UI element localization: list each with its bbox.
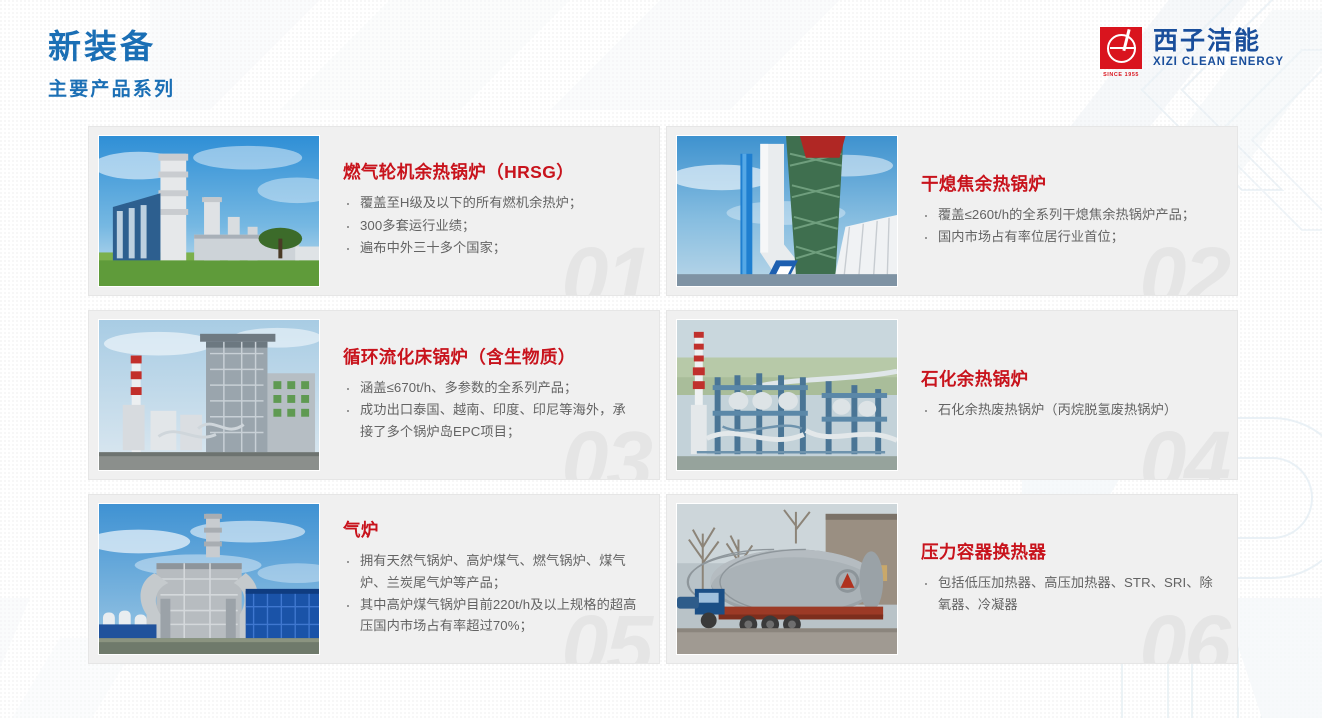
logo-name-cn: 西子洁能 [1153,28,1284,54]
card-bullet-list: 石化余热废热锅炉（丙烷脱氢废热锅炉） [921,399,1216,420]
card-watermark-number: 04 [1140,419,1229,480]
gas-turbine-hrsg-plant-photo [98,135,320,287]
card-body: 干熄焦余热锅炉 覆盖≤260t/h的全系列干熄焦余热锅炉产品； 国内市场占有率位… [898,174,1228,249]
card-title: 燃气轮机余热锅炉（HRSG） [343,162,638,183]
card-bullet-list: 涵盖≤670t/h、多参数的全系列产品； 成功出口泰国、越南、印度、印尼等海外，… [343,377,638,442]
card-title: 气炉 [343,520,638,541]
slide-header: 新装备 主要产品系列 SINCE 1955 西子洁能 XIZI CLEAN EN… [0,0,1322,118]
gas-fired-boiler-photo [98,503,320,655]
card-bullet: 遍布中外三十多个国家； [343,237,638,258]
card-bullet: 包括低压加热器、高压加热器、STR、SRI、除氧器、冷凝器 [921,572,1216,615]
product-card[interactable]: 03 [88,310,660,480]
product-card[interactable]: 01 [88,126,660,296]
card-bullet: 成功出口泰国、越南、印度、印尼等海外，承接了多个锅炉岛EPC项目； [343,399,638,442]
logo-e-icon [1100,27,1142,69]
petrochemical-waste-heat-boiler-photo [676,319,898,471]
logo-name-en: XIZI CLEAN ENERGY [1153,56,1284,68]
product-card-grid: 01 [88,126,1238,664]
card-body: 石化余热锅炉 石化余热废热锅炉（丙烷脱氢废热锅炉） [898,369,1228,421]
card-bullet-list: 拥有天然气锅炉、高炉煤气、燃气锅炉、煤气炉、兰炭尾气炉等产品； 其中高炉煤气锅炉… [343,550,638,637]
brand-logo: SINCE 1955 西子洁能 XIZI CLEAN ENERGY [1099,27,1284,78]
product-card[interactable]: 02 [666,126,1238,296]
product-card[interactable]: 05 [88,494,660,664]
card-body: 压力容器换热器 包括低压加热器、高压加热器、STR、SRI、除氧器、冷凝器 [898,542,1228,616]
card-bullet: 覆盖至H级及以下的所有燃机余热炉； [343,192,638,213]
card-body: 气炉 拥有天然气锅炉、高炉煤气、燃气锅炉、煤气炉、兰炭尾气炉等产品； 其中高炉煤… [320,520,650,638]
card-title: 石化余热锅炉 [921,369,1216,390]
page-subtitle: 主要产品系列 [48,74,175,101]
card-title: 循环流化床锅炉（含生物质） [343,347,638,368]
card-bullet: 覆盖≤260t/h的全系列干熄焦余热锅炉产品； [921,204,1216,225]
card-title: 干熄焦余热锅炉 [921,174,1216,195]
pressure-vessel-heat-exchanger-photo [676,503,898,655]
slide-root: 新装备 主要产品系列 SINCE 1955 西子洁能 XIZI CLEAN EN… [0,0,1322,718]
card-title: 压力容器换热器 [921,542,1216,563]
card-bullet-list: 包括低压加热器、高压加热器、STR、SRI、除氧器、冷凝器 [921,572,1216,615]
card-bullet: 300多套运行业绩； [343,215,638,236]
page-title: 新装备 [48,28,175,67]
card-body: 循环流化床锅炉（含生物质） 涵盖≤670t/h、多参数的全系列产品； 成功出口泰… [320,347,650,443]
card-bullet: 石化余热废热锅炉（丙烷脱氢废热锅炉） [921,399,1216,420]
card-bullet: 国内市场占有率位居行业首位； [921,226,1216,247]
logo-since-text: SINCE 1955 [1103,72,1139,78]
circulating-fluidized-bed-boiler-photo [98,319,320,471]
card-bullet-list: 覆盖至H级及以下的所有燃机余热炉； 300多套运行业绩； 遍布中外三十多个国家； [343,192,638,258]
title-block: 新装备 主要产品系列 [48,28,175,101]
card-bullet: 涵盖≤670t/h、多参数的全系列产品； [343,377,638,398]
product-card[interactable]: 04 [666,310,1238,480]
card-body: 燃气轮机余热锅炉（HRSG） 覆盖至H级及以下的所有燃机余热炉； 300多套运行… [320,162,650,259]
coke-dry-quenching-boiler-photo [676,135,898,287]
product-card[interactable]: 06 [666,494,1238,664]
card-bullet-list: 覆盖≤260t/h的全系列干熄焦余热锅炉产品； 国内市场占有率位居行业首位； [921,204,1216,248]
logo-mark: SINCE 1955 [1099,27,1143,78]
logo-wordmark: 西子洁能 XIZI CLEAN ENERGY [1153,28,1284,68]
card-bullet: 拥有天然气锅炉、高炉煤气、燃气锅炉、煤气炉、兰炭尾气炉等产品； [343,550,638,593]
card-bullet: 其中高炉煤气锅炉目前220t/h及以上规格的超高压国内市场占有率超过70%； [343,594,638,637]
